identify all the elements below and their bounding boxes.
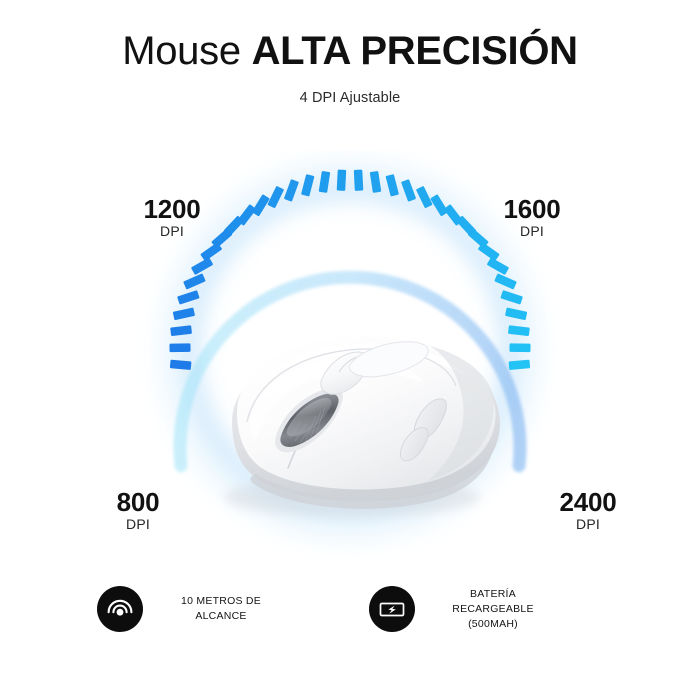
title-light-part: Mouse [122,29,251,73]
feature-battery: BATERÍA RECARGEABLE (500MAH) [347,586,619,632]
dpi-label-800: 800 DPI [78,488,198,533]
header: Mouse ALTA PRECISIÓN 4 DPI Ajustable [0,0,700,106]
dial-tick [169,343,190,352]
wireless-signal-icon [97,586,143,632]
battery-charge-icon [369,586,415,632]
feature-range-label: 10 METROS DE ALCANCE [156,594,286,624]
dpi-value: 1600 [472,195,592,223]
feature-row: 10 METROS DE ALCANCE BATERÍA RECARGEABLE… [0,586,700,676]
dpi-label-1200: 1200 DPI [112,195,232,240]
dpi-dial-stage: 1200 DPI 1600 DPI 800 DPI 2400 DPI [0,150,700,570]
dpi-value: 800 [78,488,198,516]
dpi-label-2400: 2400 DPI [528,488,648,533]
dpi-value: 2400 [528,488,648,516]
dpi-unit: DPI [78,516,198,533]
title-bold-part: ALTA PRECISIÓN [252,29,578,73]
page-title: Mouse ALTA PRECISIÓN [0,26,700,76]
mouse-product-image [224,337,500,517]
dpi-value: 1200 [112,195,232,223]
dpi-unit: DPI [528,516,648,533]
dpi-label-1600: 1600 DPI [472,195,592,240]
dial-tick [337,170,347,191]
dpi-unit: DPI [472,223,592,240]
feature-range: 10 METROS DE ALCANCE [81,586,347,632]
dpi-unit: DPI [112,223,232,240]
dial-tick [509,343,530,352]
feature-battery-label: BATERÍA RECARGEABLE (500MAH) [428,587,558,632]
dial-tick [354,170,364,191]
page-subtitle: 4 DPI Ajustable [0,90,700,106]
